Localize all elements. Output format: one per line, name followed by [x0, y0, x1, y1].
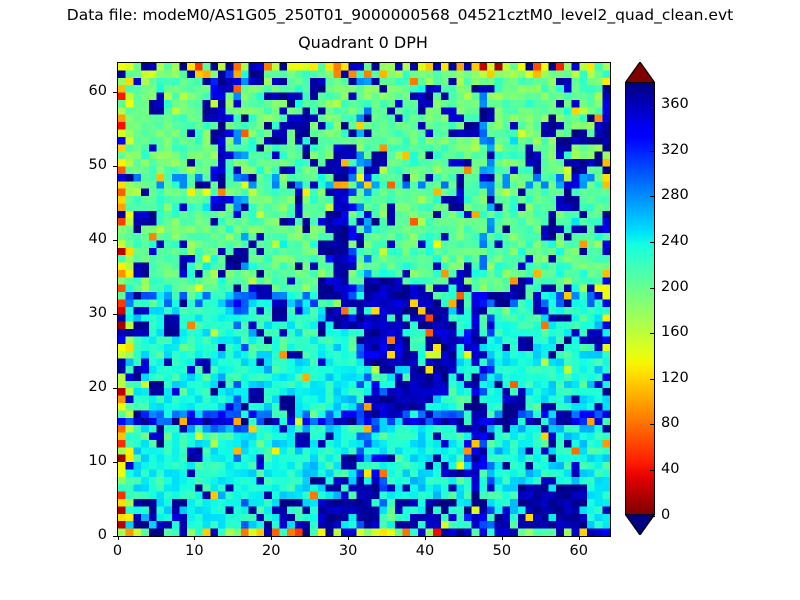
y-tick-mark: [113, 92, 117, 93]
colorbar-tick-label: 200: [661, 279, 689, 295]
colorbar-tick-mark: [650, 516, 655, 517]
x-tick-mark: [579, 536, 580, 540]
colorbar-tick-label: 320: [661, 142, 689, 158]
y-tick-label: 60: [47, 83, 107, 99]
x-tick-label: 40: [395, 543, 455, 559]
y-tick-mark: [113, 314, 117, 315]
x-tick-mark: [425, 536, 426, 540]
x-tick-mark: [118, 536, 119, 540]
colorbar-gradient-body[interactable]: [625, 82, 655, 515]
colorbar-tick-label: 280: [661, 187, 689, 203]
colorbar-tick-label: 80: [661, 415, 679, 431]
colorbar-tick-label: 120: [661, 370, 689, 386]
figure-canvas: Data file: modeM0/AS1G05_250T01_90000005…: [0, 0, 800, 600]
colorbar-tick-mark: [650, 196, 655, 197]
colorbar-gradient-fill: [626, 83, 654, 514]
colorbar-tick-mark: [650, 470, 655, 471]
x-tick-label: 50: [472, 543, 532, 559]
y-tick-mark: [113, 166, 117, 167]
colorbar-tick-label: 240: [661, 233, 689, 249]
colorbar-tick-mark: [650, 105, 655, 106]
colorbar-extend-low-arrow-icon: [625, 514, 655, 535]
x-tick-label: 0: [88, 543, 148, 559]
colorbar-tick-mark: [650, 333, 655, 334]
colorbar-tick-label: 160: [661, 324, 689, 340]
y-tick-label: 40: [47, 231, 107, 247]
y-tick-label: 50: [47, 157, 107, 173]
colorbar-extend-high-arrow-icon: [625, 62, 655, 83]
figure-suptitle: Data file: modeM0/AS1G05_250T01_90000005…: [0, 6, 800, 24]
colorbar-tick-mark: [650, 288, 655, 289]
x-tick-label: 20: [241, 543, 301, 559]
x-tick-label: 60: [549, 543, 609, 559]
heatmap-axes[interactable]: [117, 62, 611, 537]
x-tick-mark: [502, 536, 503, 540]
colorbar-tick-label: 40: [661, 461, 679, 477]
y-tick-mark: [113, 240, 117, 241]
colorbar-tick-label: 0: [661, 507, 670, 523]
x-tick-mark: [348, 536, 349, 540]
y-tick-mark: [113, 388, 117, 389]
y-tick-label: 0: [47, 527, 107, 543]
x-tick-mark: [194, 536, 195, 540]
y-tick-label: 30: [47, 305, 107, 321]
axes-title: Quadrant 0 DPH: [117, 33, 609, 52]
colorbar-tick-mark: [650, 379, 655, 380]
colorbar-tick-label: 360: [661, 96, 689, 112]
detector-heatmap-image[interactable]: [118, 63, 610, 536]
colorbar-tick-mark: [650, 242, 655, 243]
x-tick-label: 10: [164, 543, 224, 559]
colorbar[interactable]: [625, 62, 655, 535]
x-tick-label: 30: [318, 543, 378, 559]
y-tick-label: 20: [47, 379, 107, 395]
y-tick-label: 10: [47, 453, 107, 469]
colorbar-tick-mark: [650, 424, 655, 425]
y-tick-mark: [113, 462, 117, 463]
x-tick-mark: [271, 536, 272, 540]
y-tick-mark: [113, 536, 117, 537]
colorbar-tick-mark: [650, 151, 655, 152]
